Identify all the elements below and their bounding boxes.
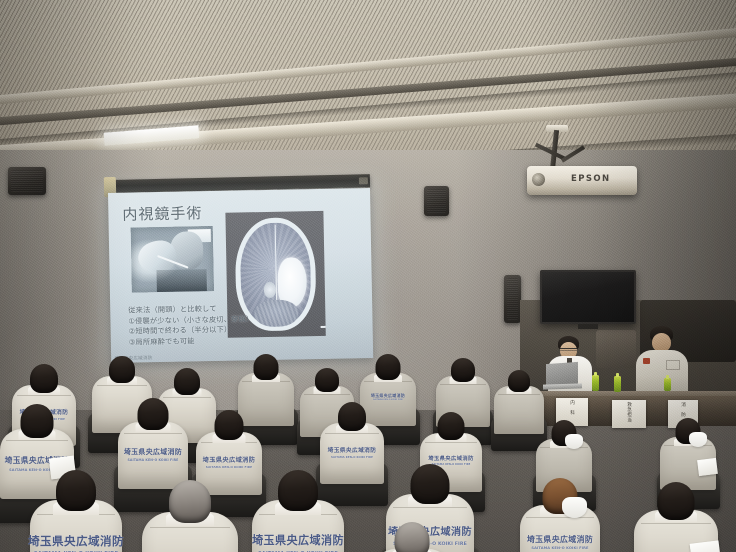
projector-lens-icon <box>532 173 545 186</box>
uniform-text-jp: 埼玉県央広域消防 <box>28 535 124 548</box>
audience-member <box>372 522 452 552</box>
wall-speaker-center <box>424 186 449 216</box>
surgical-mask <box>562 497 587 518</box>
audience-member <box>634 482 718 552</box>
uniform-text-en: SAITAMA KEN-O KOIKI FIRE <box>252 548 344 552</box>
head <box>109 356 135 383</box>
jacket-shoulder-seam <box>425 442 477 443</box>
jacket-shoulder-seam <box>124 433 183 434</box>
head <box>169 480 211 523</box>
uniform-text-jp: 埼玉県央広域消防 <box>527 535 593 544</box>
jacket-shoulder-seam <box>6 440 68 441</box>
head <box>215 410 244 440</box>
audience-member: 埼玉県央広域消防SAITAMA KEN-O KOIKI FIRE <box>252 470 344 552</box>
head <box>508 370 530 392</box>
slide-bullet-list: 従来法（開頭）と比較して ①侵襲が少ない（小さな皮切、穿頭） ②短時間で終わる（… <box>128 303 259 347</box>
uniform-back-text: 埼玉県央広域消防SAITAMA KEN-O KOIKI FIRE <box>328 448 377 461</box>
head <box>376 354 401 380</box>
head <box>658 482 695 520</box>
projector-brand-label: EPSON <box>571 174 611 184</box>
uniform-back-text: 埼玉県央広域消防SAITAMA KEN-O KOIKI FIRE <box>124 448 182 464</box>
slide-title: 内視鏡手術 <box>122 202 202 225</box>
uniform-text-jp: 埼玉県央広域消防 <box>124 448 182 456</box>
head <box>338 402 366 431</box>
head <box>138 398 169 430</box>
ct-corner-marker <box>321 326 326 328</box>
head <box>438 412 465 440</box>
uniform-text-jp: 埼玉県央広域消防 <box>203 457 256 464</box>
uniform-back-text: 埼玉県央広域消防SAITAMA KEN-O KOIKI FIRE <box>527 535 593 552</box>
uniform-text-en: SAITAMA KEN-O KOIKI FIRE <box>124 456 182 464</box>
uniform-back-text: 埼玉県央広域消防SAITAMA KEN-O KOIKI FIRE <box>203 457 256 471</box>
wall-speaker-left <box>8 167 46 195</box>
screen-endcap <box>359 177 368 184</box>
ct-posterior-fossa <box>255 299 299 327</box>
uniform-text-en: SAITAMA KEN-O KOIKI FIRE <box>527 544 593 552</box>
jacket-shoulder-seam <box>150 527 231 528</box>
projection-screen: 内視鏡手術 従来法（開頭）と比較して ①侵襲が少ない（小さ <box>108 188 373 363</box>
jacket-shoulder-seam <box>641 523 712 524</box>
head <box>451 358 475 382</box>
head <box>174 368 200 395</box>
doctor-glasses-icon <box>560 348 577 351</box>
surgical-mask <box>565 434 583 449</box>
jacket-shoulder-seam <box>97 385 147 386</box>
uniform-text-jp: 埼玉県央広域消防 <box>328 448 377 455</box>
slide-bullet-3: ③局所麻酔でも可能 <box>129 335 259 348</box>
jacket-shoulder-seam <box>440 384 485 385</box>
uniform-text-en: SAITAMA KEN-O KOIKI FIRE <box>28 548 124 552</box>
head <box>254 354 279 380</box>
audience-member: 埼玉県央広域消防SAITAMA KEN-O KOIKI FIRE <box>30 470 122 552</box>
surgical-mask <box>689 432 707 447</box>
uniform-back-text: 埼玉県央広域消防SAITAMA KEN-O KOIKI FIRE <box>252 535 344 552</box>
audience-member: 埼玉県央広域消防SAITAMA KEN-O KOIKI FIRE <box>520 478 600 552</box>
wall-speaker-right <box>504 275 521 323</box>
display-stand <box>578 324 598 329</box>
head <box>315 368 339 392</box>
jacket-shoulder-seam <box>393 507 467 508</box>
audience: 埼玉県央広域消防SAITAMA KEN-O KOIKI FIRE埼玉県央広域消防… <box>0 352 736 552</box>
surgery-photo-shadow <box>156 269 207 292</box>
head <box>56 470 96 511</box>
audience-member <box>142 480 238 552</box>
wall-display <box>540 270 636 324</box>
uniform-back-text: 埼玉県央広域消防SAITAMA KEN-O KOIKI FIRE <box>28 535 124 552</box>
slide-surgery-photo <box>131 226 214 293</box>
projector: EPSON <box>527 166 637 195</box>
uniform-text-jp: 埼玉県央広域消防 <box>252 535 344 548</box>
head <box>30 364 58 393</box>
lecture-hall-photo: EPSON 内視鏡手術 <box>0 0 736 552</box>
head <box>278 470 318 511</box>
uniform-text-en: SAITAMA KEN-O KOIKI FIRE <box>203 464 256 471</box>
head <box>21 404 54 438</box>
uniform-text-en: SAITAMA KEN-O KOIKI FIRE <box>328 455 377 462</box>
jacket-shoulder-seam <box>526 517 593 518</box>
head <box>411 464 450 504</box>
projected-slide: 内視鏡手術 従来法（開頭）と比較して ①侵襲が少ない（小さ <box>108 188 373 363</box>
head <box>395 522 430 552</box>
handout <box>697 458 718 476</box>
jacket-shoulder-seam <box>304 394 349 395</box>
